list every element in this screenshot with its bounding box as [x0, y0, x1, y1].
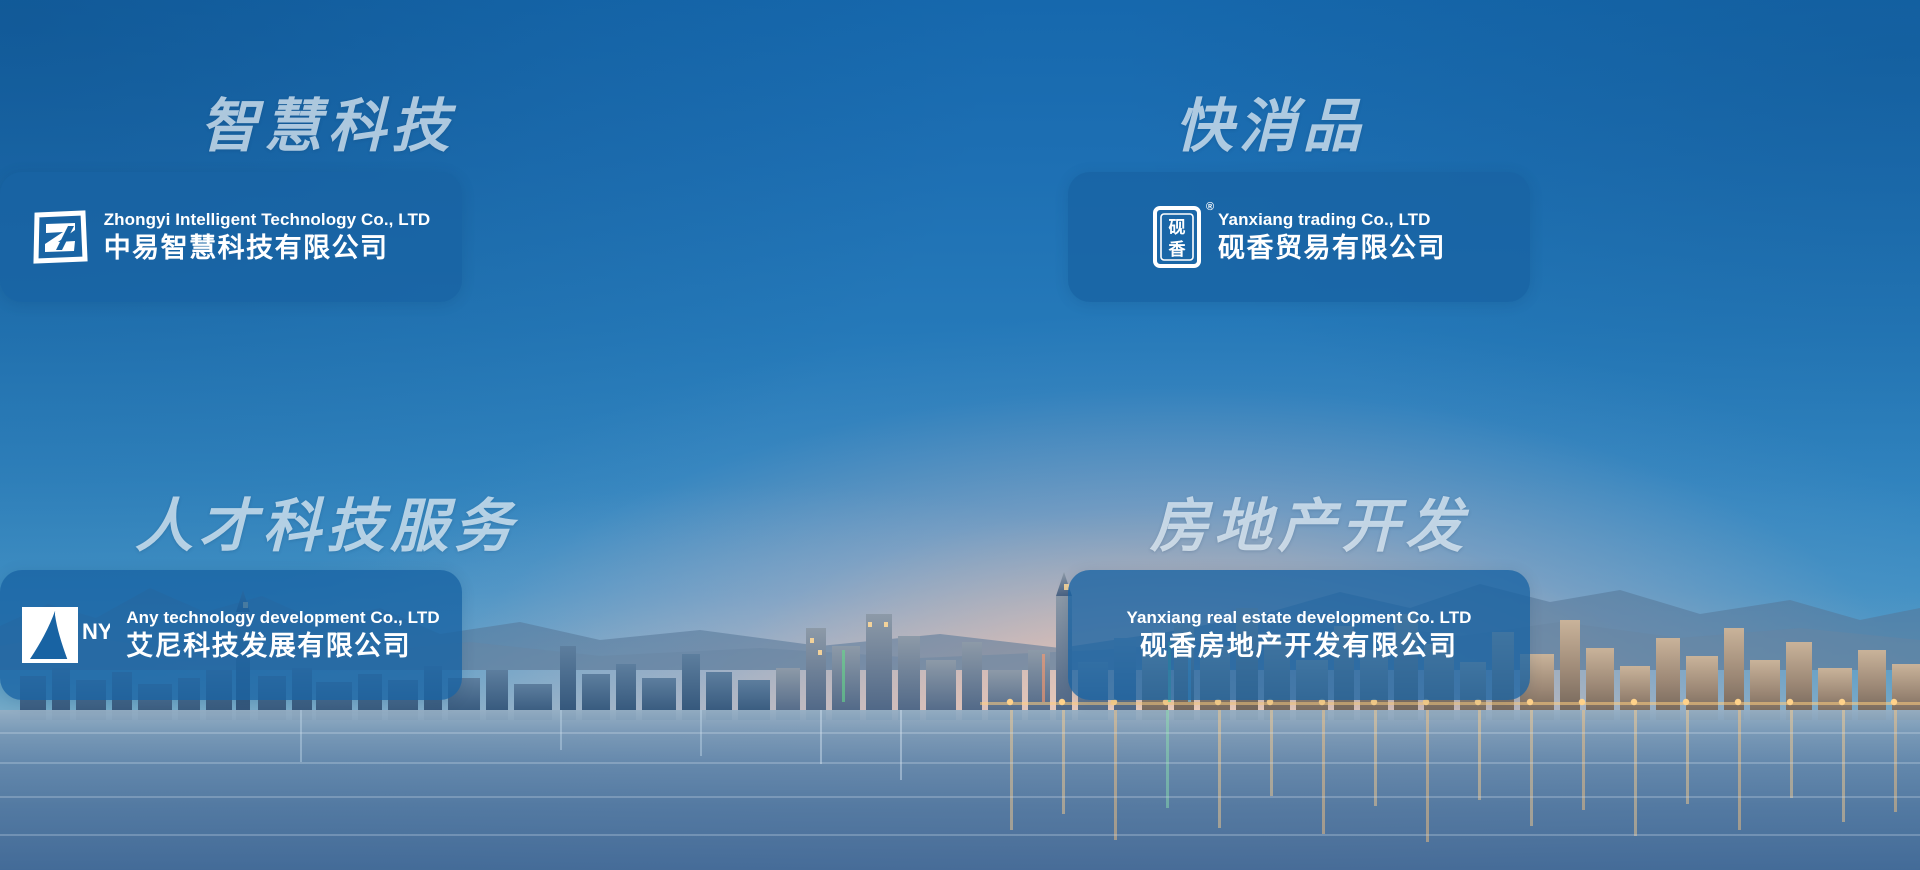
segments-grid: 智慧科技 Zhongyi Intelligent Technology Co.,… [0, 0, 1920, 870]
segment-talent-tech-services: 人才科技服务 NY Any technology development Co.… [0, 435, 960, 870]
company-name-en: Zhongyi Intelligent Technology Co., LTD [104, 210, 431, 230]
company-card-any[interactable]: NY Any technology development Co., LTD 艾… [0, 570, 462, 700]
svg-text:砚: 砚 [1169, 218, 1186, 238]
segment-real-estate-development: 房地产开发 Yanxiang real estate development C… [960, 435, 1920, 870]
company-name-en: Yanxiang real estate development Co. LTD [1126, 608, 1471, 628]
company-name-en: Any technology development Co., LTD [126, 608, 439, 628]
svg-text:香: 香 [1169, 240, 1186, 260]
company-names: Yanxiang trading Co., LTD 砚香贸易有限公司 [1218, 210, 1446, 265]
company-card-zhongyi[interactable]: Zhongyi Intelligent Technology Co., LTD … [0, 172, 462, 302]
zhongyi-z-logo-icon [32, 209, 88, 265]
registered-trademark-icon: ® [1206, 201, 1214, 213]
segment-smart-technology: 智慧科技 Zhongyi Intelligent Technology Co.,… [0, 0, 960, 435]
company-name-cn: 艾尼科技发展有限公司 [126, 631, 439, 663]
company-card-yanxiang-real-estate[interactable]: Yanxiang real estate development Co. LTD… [1068, 570, 1530, 700]
company-names: Zhongyi Intelligent Technology Co., LTD … [104, 210, 431, 265]
yanxiang-seal-logo-icon: 砚 香 ® [1152, 205, 1202, 269]
svg-text:NY: NY [82, 619, 110, 644]
company-name-cn: 砚香贸易有限公司 [1218, 233, 1446, 265]
segment-heading: 房地产开发 [1150, 498, 1469, 556]
segment-heading: 人才科技服务 [135, 498, 518, 556]
company-names: Yanxiang real estate development Co. LTD… [1126, 608, 1471, 663]
segment-heading: 智慧科技 [200, 98, 455, 156]
company-names: Any technology development Co., LTD 艾尼科技… [126, 608, 439, 663]
company-name-cn: 砚香房地产开发有限公司 [1140, 631, 1458, 663]
segment-fast-moving-consumer-goods: 快消品 砚 香 ® Yanxiang trading Co., LTD 砚香贸易… [960, 0, 1920, 435]
company-card-yanxiang-trading[interactable]: 砚 香 ® Yanxiang trading Co., LTD 砚香贸易有限公司 [1068, 172, 1530, 302]
segment-heading: 快消品 [1175, 98, 1366, 156]
company-name-cn: 中易智慧科技有限公司 [104, 233, 431, 265]
any-mountain-logo-icon: NY [22, 605, 110, 665]
company-name-en: Yanxiang trading Co., LTD [1218, 210, 1446, 230]
